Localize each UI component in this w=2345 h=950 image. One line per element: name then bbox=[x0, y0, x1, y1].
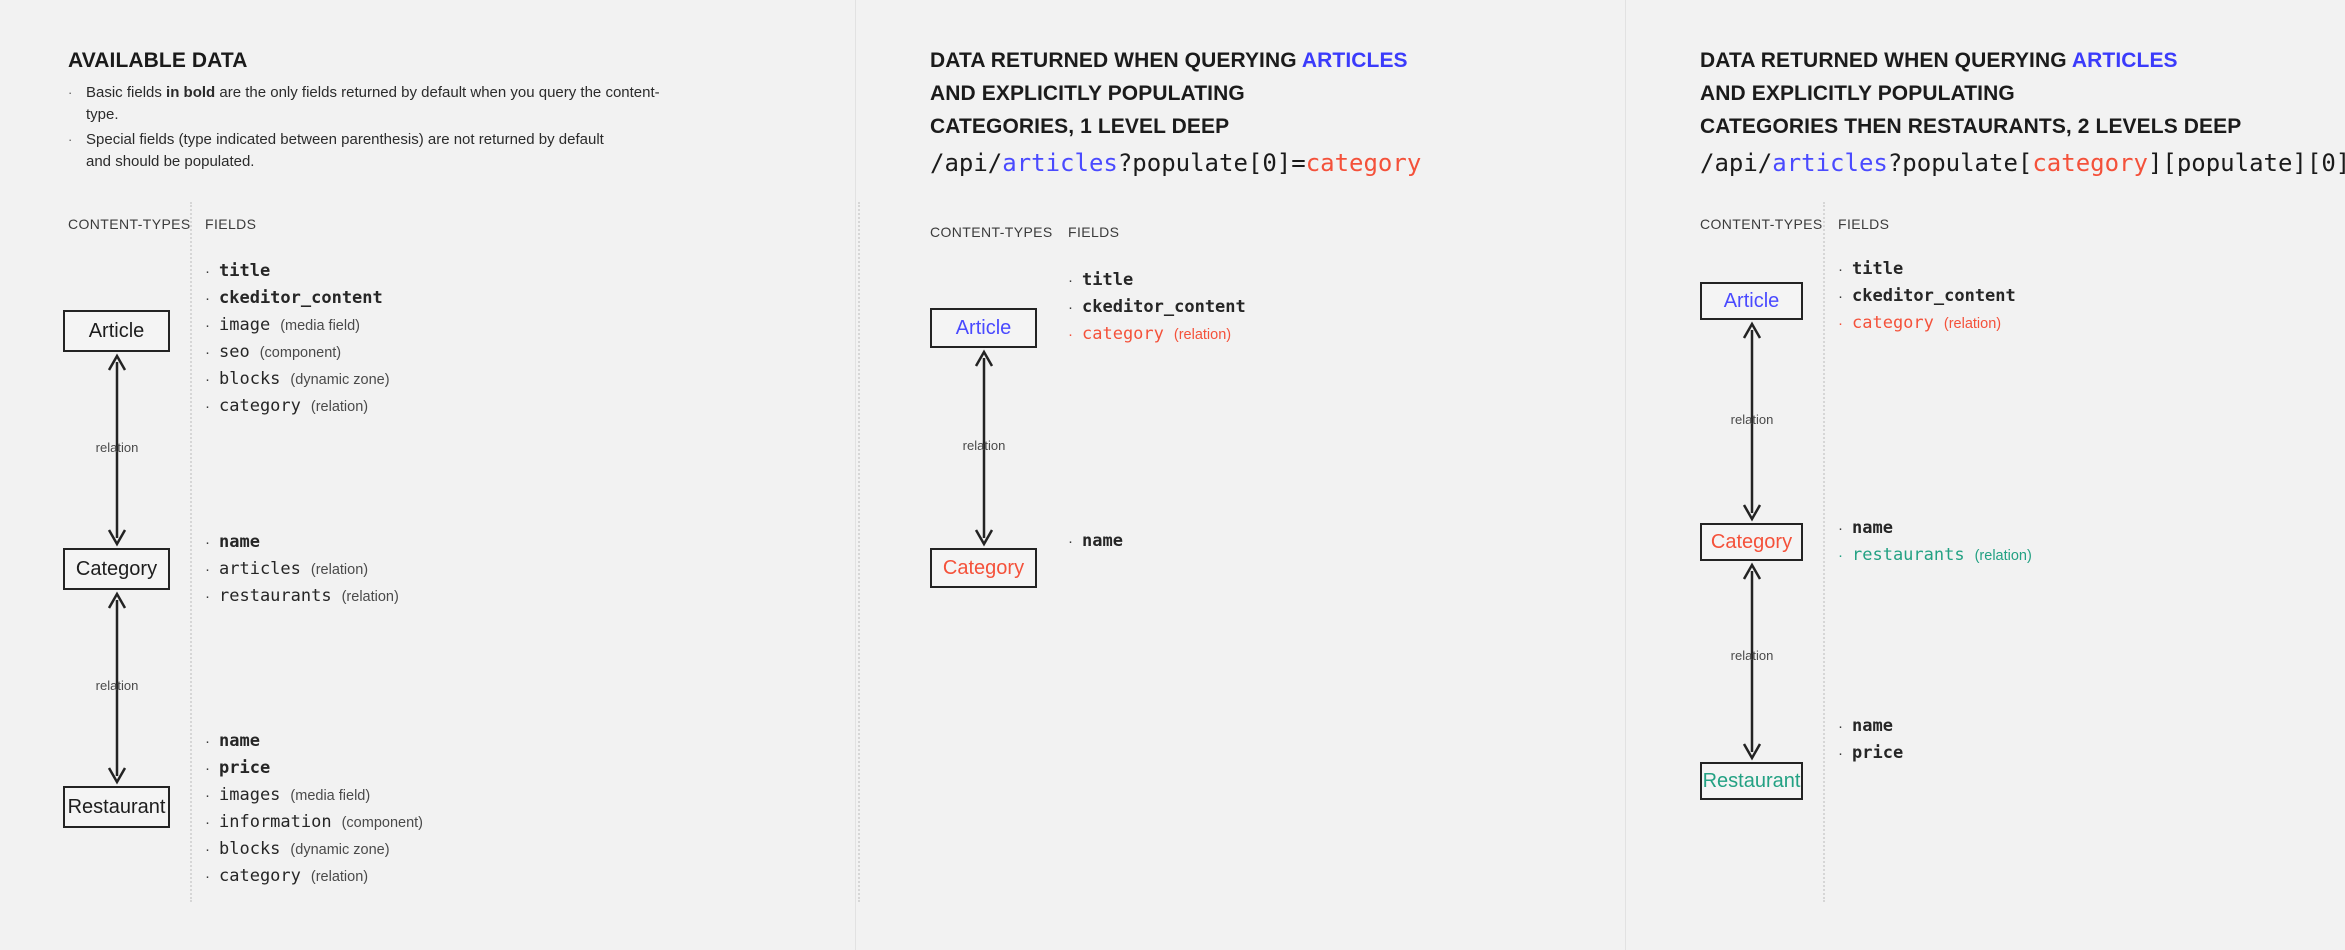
query-part: ?populate[0]= bbox=[1118, 149, 1306, 177]
entity-box-article[interactable]: Article bbox=[930, 308, 1037, 348]
bullet-glyph: · bbox=[205, 842, 219, 857]
bullet-glyph: · bbox=[205, 535, 219, 550]
bullet-glyph: · bbox=[1838, 521, 1852, 536]
field-name: price bbox=[219, 758, 270, 778]
entity-box-article[interactable]: Article bbox=[1700, 282, 1803, 320]
field-row-images: ·images(media field) bbox=[205, 785, 423, 812]
column-label-content-types: CONTENT-TYPES bbox=[1700, 216, 1823, 232]
bullet-glyph: · bbox=[205, 562, 219, 577]
field-name: price bbox=[1852, 743, 1903, 763]
field-type-annotation: (dynamic zone) bbox=[290, 842, 389, 858]
field-row-name: ·name bbox=[1838, 716, 1903, 743]
relation-label-1: relation bbox=[96, 440, 139, 455]
query-part-articles: articles bbox=[1002, 149, 1118, 177]
field-row-ckeditor_content: ·ckeditor_content bbox=[205, 288, 390, 315]
column-divider-dotted bbox=[1823, 202, 1825, 902]
query-part: ][populate][0]= bbox=[2148, 149, 2345, 177]
bullet-glyph: · bbox=[1838, 719, 1852, 734]
bullet-glyph: · bbox=[1838, 262, 1852, 277]
field-row-articles: ·articles(relation) bbox=[205, 559, 399, 586]
bullet-glyph: · bbox=[68, 132, 86, 147]
column-label-fields: FIELDS bbox=[1838, 216, 1889, 232]
field-name: title bbox=[1082, 270, 1133, 290]
field-name: name bbox=[219, 532, 260, 552]
field-type-annotation: (component) bbox=[342, 815, 423, 831]
bullet-glyph: · bbox=[1068, 534, 1082, 549]
field-row-title: ·title bbox=[1838, 259, 2016, 286]
field-row-name: ·name bbox=[1838, 518, 2032, 545]
field-name: articles bbox=[219, 559, 301, 579]
bullet-glyph: · bbox=[205, 788, 219, 803]
heading-accent-articles: ARTICLES bbox=[2072, 49, 2178, 72]
panel-2-heading-line1: DATA RETURNED WHEN QUERYING ARTICLES bbox=[930, 44, 1408, 77]
panel-populate-two-levels: DATA RETURNED WHEN QUERYING ARTICLES AND… bbox=[1625, 0, 2345, 950]
field-name: ckeditor_content bbox=[1082, 297, 1246, 317]
panel-3-heading-line1: DATA RETURNED WHEN QUERYING ARTICLES bbox=[1700, 44, 2178, 77]
relation-label-1: relation bbox=[963, 438, 1006, 453]
field-row-name: ·name bbox=[205, 731, 423, 758]
bullet-glyph: · bbox=[1838, 746, 1852, 761]
column-divider-dotted bbox=[858, 202, 860, 902]
bullet-glyph: · bbox=[1838, 289, 1852, 304]
bullet-glyph: · bbox=[205, 264, 219, 279]
field-group-category: ·name·articles(relation)·restaurants(rel… bbox=[205, 532, 399, 613]
panel-1-heading: AVAILABLE DATA bbox=[68, 44, 248, 77]
field-row-category: ·category(relation) bbox=[1838, 313, 2016, 340]
entity-box-restaurant[interactable]: Restaurant bbox=[1700, 762, 1803, 800]
field-row-category: ·category(relation) bbox=[205, 866, 423, 893]
bullet-glyph: · bbox=[205, 734, 219, 749]
entity-box-category[interactable]: Category bbox=[930, 548, 1037, 588]
column-label-fields: FIELDS bbox=[1068, 224, 1119, 240]
intro-bullet-item: · Basic fields in bold are the only fiel… bbox=[68, 82, 688, 126]
query-part-category: category bbox=[1306, 149, 1422, 177]
field-group-article: ·title·ckeditor_content·image(media fiel… bbox=[205, 261, 390, 423]
field-name: category bbox=[219, 396, 301, 416]
field-row-name: ·name bbox=[1068, 531, 1123, 558]
field-type-annotation: (dynamic zone) bbox=[290, 372, 389, 388]
relation-label-2: relation bbox=[1731, 648, 1774, 663]
query-part: /api/ bbox=[1700, 149, 1772, 177]
field-type-annotation: (relation) bbox=[1174, 327, 1231, 343]
entity-box-category[interactable]: Category bbox=[1700, 523, 1803, 561]
bullet-glyph: · bbox=[205, 318, 219, 333]
panel-3-heading-line2: AND EXPLICITLY POPULATING bbox=[1700, 77, 2015, 110]
bullet-glyph: · bbox=[1068, 327, 1082, 342]
field-row-title: ·title bbox=[205, 261, 390, 288]
column-label-content-types: CONTENT-TYPES bbox=[930, 224, 1053, 240]
field-type-annotation: (relation) bbox=[311, 869, 368, 885]
field-group-category: ·name bbox=[1068, 531, 1123, 558]
field-name: ckeditor_content bbox=[219, 288, 383, 308]
query-part: ?populate[ bbox=[1888, 149, 2033, 177]
field-type-annotation: (relation) bbox=[1944, 316, 2001, 332]
field-row-blocks: ·blocks(dynamic zone) bbox=[205, 369, 390, 396]
field-row-seo: ·seo(component) bbox=[205, 342, 390, 369]
bullet-glyph: · bbox=[1838, 316, 1852, 331]
field-row-restaurants: ·restaurants(relation) bbox=[1838, 545, 2032, 572]
field-row-image: ·image(media field) bbox=[205, 315, 390, 342]
query-part: /api/ bbox=[930, 149, 1002, 177]
bullet-glyph: · bbox=[205, 589, 219, 604]
field-name: ckeditor_content bbox=[1852, 286, 2016, 306]
intro-bullet-list: · Basic fields in bold are the only fiel… bbox=[68, 82, 688, 176]
heading-accent-articles: ARTICLES bbox=[1302, 49, 1408, 72]
field-name: name bbox=[219, 731, 260, 751]
entity-box-restaurant[interactable]: Restaurant bbox=[63, 786, 170, 828]
column-label-fields: FIELDS bbox=[205, 216, 256, 232]
field-row-title: ·title bbox=[1068, 270, 1246, 297]
panel-2-heading-line2: AND EXPLICITLY POPULATING bbox=[930, 77, 1245, 110]
intro-text-1: Basic fields in bold are the only fields… bbox=[86, 82, 688, 126]
field-name: name bbox=[1852, 518, 1893, 538]
field-name: name bbox=[1852, 716, 1893, 736]
field-name: images bbox=[219, 785, 280, 805]
entity-box-category[interactable]: Category bbox=[63, 548, 170, 590]
field-row-price: ·price bbox=[205, 758, 423, 785]
field-row-blocks: ·blocks(dynamic zone) bbox=[205, 839, 423, 866]
field-name: seo bbox=[219, 342, 250, 362]
relation-label-2: relation bbox=[96, 678, 139, 693]
panel-3-query-string: /api/articles?populate[category][populat… bbox=[1700, 148, 2345, 178]
field-name: image bbox=[219, 315, 270, 335]
diagram-canvas: AVAILABLE DATA · Basic fields in bold ar… bbox=[0, 0, 2345, 950]
field-row-information: ·information(component) bbox=[205, 812, 423, 839]
column-divider-dotted bbox=[190, 202, 192, 902]
entity-box-article[interactable]: Article bbox=[63, 310, 170, 352]
field-name: information bbox=[219, 812, 332, 832]
intro-bullet-item: · Special fields (type indicated between… bbox=[68, 129, 688, 173]
field-group-article: ·title·ckeditor_content·category(relatio… bbox=[1068, 270, 1246, 351]
field-group-category: ·name·restaurants(relation) bbox=[1838, 518, 2032, 572]
field-name: blocks bbox=[219, 369, 280, 389]
field-type-annotation: (relation) bbox=[1975, 548, 2032, 564]
field-group-restaurant: ·name·price bbox=[1838, 716, 1903, 770]
field-type-annotation: (relation) bbox=[311, 399, 368, 415]
field-row-category: ·category(relation) bbox=[205, 396, 390, 423]
panel-3-heading-line3: CATEGORIES THEN RESTAURANTS, 2 LEVELS DE… bbox=[1700, 110, 2241, 143]
bullet-glyph: · bbox=[205, 399, 219, 414]
field-type-annotation: (relation) bbox=[342, 589, 399, 605]
bullet-glyph: · bbox=[1068, 300, 1082, 315]
field-name: category bbox=[1082, 324, 1164, 344]
bullet-glyph: · bbox=[205, 345, 219, 360]
field-group-restaurant: ·name·price·images(media field)·informat… bbox=[205, 731, 423, 893]
field-row-name: ·name bbox=[205, 532, 399, 559]
bullet-glyph: · bbox=[1068, 273, 1082, 288]
panel-available-data: AVAILABLE DATA · Basic fields in bold ar… bbox=[0, 0, 855, 950]
panel-2-heading-line3: CATEGORIES, 1 LEVEL DEEP bbox=[930, 110, 1229, 143]
field-row-restaurants: ·restaurants(relation) bbox=[205, 586, 399, 613]
bullet-glyph: · bbox=[205, 761, 219, 776]
field-name: blocks bbox=[219, 839, 280, 859]
field-type-annotation: (media field) bbox=[290, 788, 370, 804]
bullet-glyph: · bbox=[68, 85, 86, 100]
bullet-glyph: · bbox=[205, 815, 219, 830]
panel-populate-one-level: DATA RETURNED WHEN QUERYING ARTICLES AND… bbox=[855, 0, 1625, 950]
field-name: category bbox=[219, 866, 301, 886]
field-name: restaurants bbox=[1852, 545, 1965, 565]
column-label-content-types: CONTENT-TYPES bbox=[68, 216, 191, 232]
field-name: restaurants bbox=[219, 586, 332, 606]
panel-2-query-string: /api/articles?populate[0]=category bbox=[930, 148, 1421, 178]
field-name: name bbox=[1082, 531, 1123, 551]
field-row-ckeditor_content: ·ckeditor_content bbox=[1838, 286, 2016, 313]
field-type-annotation: (media field) bbox=[280, 318, 360, 334]
intro-text-2: Special fields (type indicated between p… bbox=[86, 129, 604, 173]
field-type-annotation: (relation) bbox=[311, 562, 368, 578]
field-name: title bbox=[219, 261, 270, 281]
field-row-price: ·price bbox=[1838, 743, 1903, 770]
field-row-category: ·category(relation) bbox=[1068, 324, 1246, 351]
field-name: category bbox=[1852, 313, 1934, 333]
bullet-glyph: · bbox=[1838, 548, 1852, 563]
query-part-articles: articles bbox=[1772, 149, 1888, 177]
field-group-article: ·title·ckeditor_content·category(relatio… bbox=[1838, 259, 2016, 340]
query-part-category: category bbox=[2032, 149, 2148, 177]
bullet-glyph: · bbox=[205, 291, 219, 306]
bullet-glyph: · bbox=[205, 869, 219, 884]
field-row-ckeditor_content: ·ckeditor_content bbox=[1068, 297, 1246, 324]
field-name: title bbox=[1852, 259, 1903, 279]
field-type-annotation: (component) bbox=[260, 345, 341, 361]
bullet-glyph: · bbox=[205, 372, 219, 387]
relation-label-1: relation bbox=[1731, 412, 1774, 427]
